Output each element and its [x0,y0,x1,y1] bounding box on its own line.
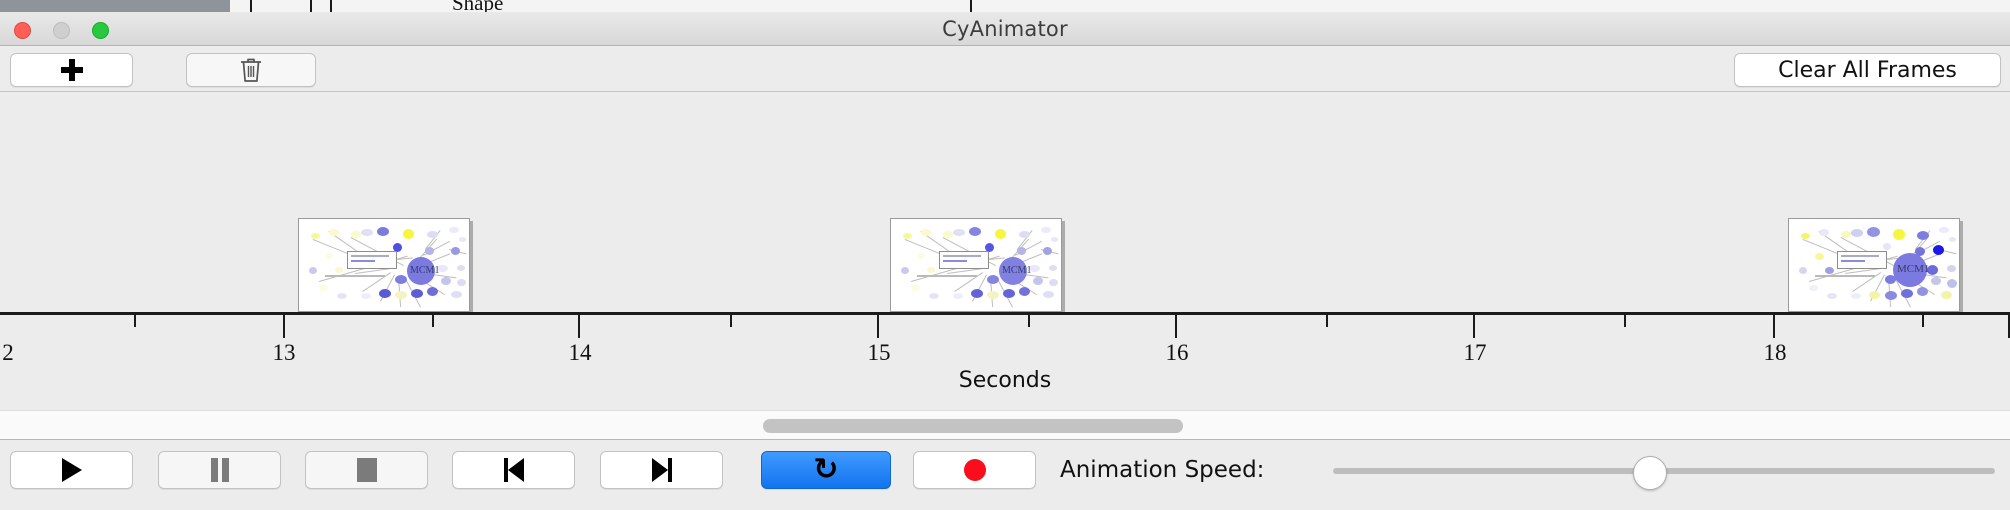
axis-major-tick [578,315,580,338]
pause-icon [211,458,229,482]
axis-major-tick [1473,315,1475,338]
timeline-scrollbar[interactable] [0,410,2010,440]
timeline-axis [0,312,2010,315]
axis-tick-label: 18 [1764,340,1787,366]
keyframe-thumbnail[interactable]: MCM1 [298,218,470,312]
network-thumbnail-2: MCM1 [891,219,1061,311]
hub-node-label: MCM1 [410,265,439,276]
axis-tick-label: 14 [569,340,592,366]
axis-tick-label: 17 [1464,340,1487,366]
step-forward-button[interactable] [600,451,723,489]
background-cell [1118,0,1539,12]
play-button[interactable] [10,451,133,489]
animation-speed-slider-thumb[interactable] [1633,456,1667,490]
keyframe-thumbnail[interactable]: MCM1 [1788,218,1960,312]
toolbar: Clear All Frames [0,46,2010,92]
loop-button[interactable]: ↻ [761,451,891,489]
cyanimator-window: Shape CyAnimator Clear All Frames [0,0,2010,510]
hub-node-label: MCM1 [1897,263,1929,275]
axis-minor-tick [1326,315,1328,327]
background-mark [970,0,972,12]
skip-next-icon [652,458,672,482]
delete-frame-button[interactable] [186,53,316,87]
background-cell [350,0,449,12]
window-title: CyAnimator [0,12,2010,46]
clear-all-frames-button[interactable]: Clear All Frames [1734,53,2001,87]
background-cell [598,0,719,12]
pause-button[interactable] [158,451,281,489]
axis-minor-tick [730,315,732,327]
add-frame-button[interactable] [10,53,133,87]
scrollbar-thumb[interactable] [763,419,1183,433]
network-thumbnail-1: MCM1 [299,219,469,311]
title-bar: CyAnimator [0,12,2010,46]
keyframe-thumbnail[interactable]: MCM1 [890,218,1062,312]
background-window-strip: Shape [0,0,2010,12]
axis-tick-label: 2 [2,340,14,366]
timeline-panel[interactable]: MCM1 [0,92,2010,410]
background-mark [310,0,312,12]
background-cell [818,0,1119,12]
step-back-button[interactable] [452,451,575,489]
axis-minor-tick [1624,315,1626,327]
axis-minor-tick [134,315,136,327]
axis-minor-tick [432,315,434,327]
stop-icon [357,458,377,482]
background-partial-label: Shape [452,0,503,12]
axis-major-tick [1175,315,1177,338]
axis-minor-tick [1028,315,1030,327]
background-cell [1538,0,2010,12]
record-icon [964,459,986,481]
plus-icon [61,59,83,81]
axis-minor-tick [1922,315,1924,327]
trash-icon [238,56,264,84]
axis-major-tick [283,315,285,338]
axis-major-tick [877,315,879,338]
playback-control-bar: ↻ Animation Speed: [0,441,2010,510]
axis-title: Seconds [0,368,2010,393]
background-cell [718,0,819,12]
axis-tick-label: 15 [868,340,891,366]
background-mark [330,0,332,12]
axis-tick-label: 13 [273,340,296,366]
network-thumbnail-3: MCM1 [1789,219,1959,311]
axis-tick-label: 16 [1166,340,1189,366]
play-icon [62,458,82,482]
loop-icon: ↻ [813,455,838,485]
background-mark [250,0,252,12]
record-button[interactable] [913,451,1036,489]
axis-major-tick [1773,315,1775,338]
skip-previous-icon [504,458,524,482]
animation-speed-label: Animation Speed: [1060,451,1264,489]
background-cell [230,0,351,12]
hub-node-label: MCM1 [1002,265,1031,276]
background-titlebar-fragment [0,0,230,12]
stop-button[interactable] [305,451,428,489]
